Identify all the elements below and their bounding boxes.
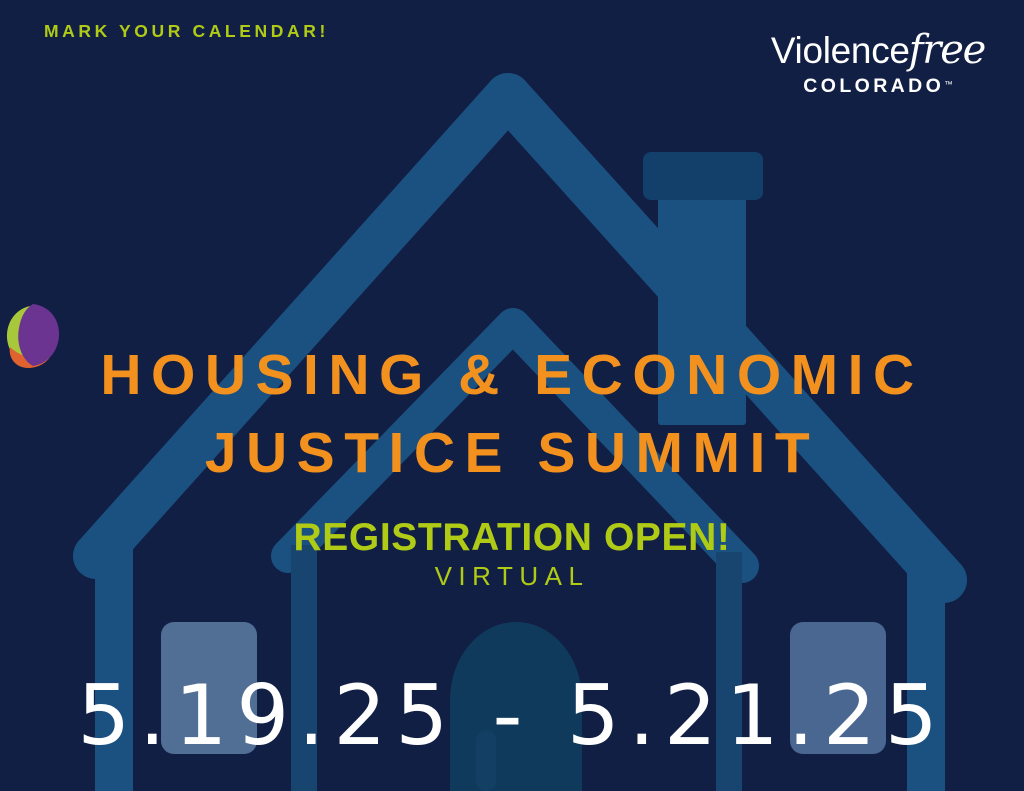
logo-word-free: free [909,27,985,73]
event-title: HOUSING & ECONOMIC JUSTICE SUMMIT [0,347,1024,482]
trademark-symbol: ™ [944,79,953,89]
logo-subtitle: COLORADO™ [762,77,994,97]
event-title-line-2: JUSTICE SUMMIT [0,425,1024,482]
house-chimney-cap [643,152,763,200]
logo-wordmark: Violencefree [762,30,994,70]
event-title-line-1: HOUSING & ECONOMIC [0,347,1024,404]
event-format: VIRTUAL [0,561,1024,592]
logo-subtitle-text: COLORADO [803,75,944,97]
registration-status: REGISTRATION OPEN! [0,516,1024,560]
house-outer-roof [96,96,944,580]
event-promo-poster: MARK YOUR CALENDAR! Violencefree COLORAD… [0,0,1024,791]
kicker-text: MARK YOUR CALENDAR! [44,21,329,42]
event-date-range: 5.19.25 - 5.21.25 [0,667,1024,764]
logo-word-violence: Violence [771,30,910,71]
organization-logo: Violencefree COLORADO™ [762,30,994,97]
